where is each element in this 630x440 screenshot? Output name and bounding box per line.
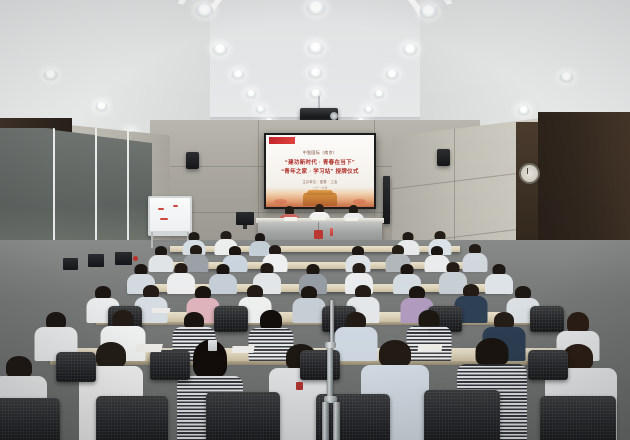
chair[interactable] (0, 398, 60, 440)
chair[interactable] (96, 396, 168, 440)
slide-line-1: 中智国际（南京） (266, 150, 374, 156)
downlight (308, 42, 323, 53)
slide-line-4: 主办单位：团委 · 工会 (266, 179, 374, 184)
wall-speaker-left (186, 152, 199, 169)
projector-lens-icon (330, 112, 338, 120)
chair[interactable] (540, 396, 616, 440)
floor-speaker-right (383, 176, 390, 224)
aisle-pole (327, 346, 333, 402)
slide-cloud-decor (274, 199, 287, 204)
slide-line-2: “建功新时代 · 青春在当下” (266, 158, 374, 166)
downlight (374, 90, 384, 97)
whiteboard[interactable] (148, 196, 192, 236)
slide-banner (269, 137, 295, 144)
aisle-pole (333, 402, 340, 440)
paper (418, 344, 443, 351)
workstation-monitor (63, 258, 78, 270)
downlight (518, 106, 529, 114)
aisle-pole (322, 402, 329, 440)
podium-monitor (236, 212, 254, 225)
downlight (213, 44, 227, 54)
downlight (246, 90, 256, 97)
chair[interactable] (528, 350, 568, 380)
slide-line-3: “青年之家 · 学习站” 授牌仪式 (266, 167, 374, 175)
red-item (296, 382, 303, 390)
downlight (386, 70, 398, 78)
chair[interactable] (150, 350, 190, 380)
downlight (96, 102, 107, 110)
downlight (420, 5, 437, 17)
downlight (232, 70, 244, 78)
workstation-monitor (88, 254, 104, 267)
status-light (133, 256, 138, 261)
cup (208, 340, 217, 351)
slide-cloud-decor (353, 199, 366, 204)
downlight (256, 106, 265, 112)
chair[interactable] (214, 306, 248, 332)
chair[interactable] (424, 390, 500, 440)
downlight (307, 1, 325, 14)
wall-clock-icon (519, 163, 540, 184)
paper (152, 308, 171, 313)
whiteboard-surface (150, 198, 190, 231)
chair[interactable] (56, 352, 96, 382)
head-table-emblem (314, 230, 323, 239)
attendee (292, 286, 326, 322)
wall-speaker-right (437, 149, 450, 166)
aisle-pole-joint (325, 342, 336, 348)
chair[interactable] (206, 392, 280, 440)
downlight (364, 106, 373, 112)
water-bottle (330, 228, 333, 236)
chair[interactable] (300, 350, 340, 380)
downlight (403, 44, 417, 54)
downlight (44, 70, 57, 79)
paper (231, 346, 254, 353)
downlight (309, 68, 322, 77)
downlight (560, 72, 573, 81)
aisle-pole (330, 300, 334, 348)
projection-screen: 中智国际（南京） “建功新时代 · 青春在当下” “青年之家 · 学习站” 授牌… (264, 133, 376, 209)
conference-hall-photo: 中智国际（南京） “建功新时代 · 青春在当下” “青年之家 · 学习站” 授牌… (0, 0, 630, 440)
downlight (196, 4, 213, 16)
slide-surface: 中智国际（南京） “建功新时代 · 青春在当下” “青年之家 · 学习站” 授牌… (266, 135, 374, 207)
paper (135, 344, 163, 352)
